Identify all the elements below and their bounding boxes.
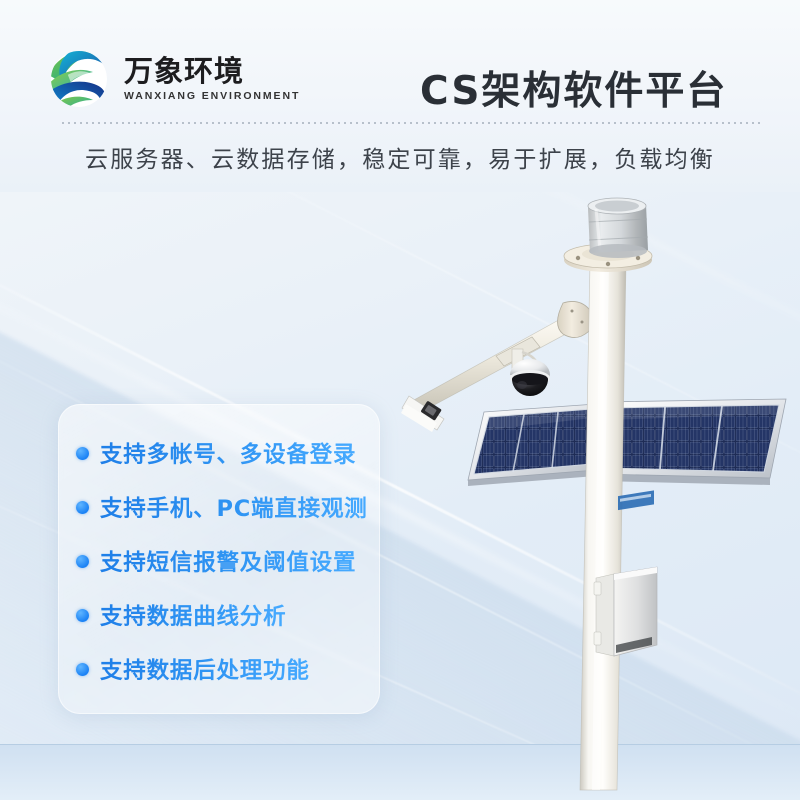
brand-name-en: WANXIANG ENVIRONMENT — [124, 90, 300, 102]
feature-card: 支持多帐号、多设备登录 支持手机、PC端直接观测 支持短信报警及阈值设置 支持数… — [58, 404, 380, 714]
arm-end-sensor-box — [401, 396, 444, 432]
list-item[interactable]: 支持数据后处理功能 — [76, 642, 380, 696]
page-title: CS架构软件平台 — [420, 60, 727, 116]
bullet-dot-icon — [76, 447, 89, 460]
list-item[interactable]: 支持手机、PC端直接观测 — [76, 480, 380, 534]
mounting-flange — [564, 244, 652, 272]
rain-gauge-sensor — [588, 198, 648, 258]
solar-panel-right — [598, 399, 786, 498]
feature-label: 支持数据后处理功能 — [100, 653, 310, 685]
brand-text: 万象环境 WANXIANG ENVIRONMENT — [124, 56, 300, 102]
list-item[interactable]: 支持数据曲线分析 — [76, 588, 380, 642]
brand-logo: 万象环境 WANXIANG ENVIRONMENT — [44, 44, 300, 114]
brand-name-cn: 万象环境 — [124, 56, 300, 87]
bullet-dot-icon — [76, 555, 89, 568]
list-item[interactable]: 支持多帐号、多设备登录 — [76, 426, 380, 480]
poster-canvas: 万象环境 WANXIANG ENVIRONMENT CS架构软件平台 云服务器、… — [0, 0, 800, 800]
feature-label: 支持数据曲线分析 — [100, 599, 286, 631]
control-cabinet — [594, 490, 657, 656]
dotted-divider — [60, 122, 760, 124]
ground-band — [0, 744, 800, 800]
globe-swoosh-logo-icon — [44, 44, 114, 114]
feature-label: 支持短信报警及阈值设置 — [100, 545, 356, 577]
list-item[interactable]: 支持短信报警及阈值设置 — [76, 534, 380, 588]
bullet-dot-icon — [76, 501, 89, 514]
solar-panel-left — [468, 404, 596, 486]
horizon-line — [0, 744, 800, 745]
ptz-dome-camera — [496, 337, 550, 396]
cross-arm — [414, 301, 593, 410]
feature-list: 支持多帐号、多设备登录 支持手机、PC端直接观测 支持短信报警及阈值设置 支持数… — [76, 426, 380, 696]
feature-label: 支持手机、PC端直接观测 — [100, 491, 368, 523]
page-subtitle: 云服务器、云数据存储，稳定可靠，易于扩展，负载均衡 — [0, 140, 800, 174]
bullet-dot-icon — [76, 663, 89, 676]
bullet-dot-icon — [76, 609, 89, 622]
feature-label: 支持多帐号、多设备登录 — [100, 437, 356, 469]
